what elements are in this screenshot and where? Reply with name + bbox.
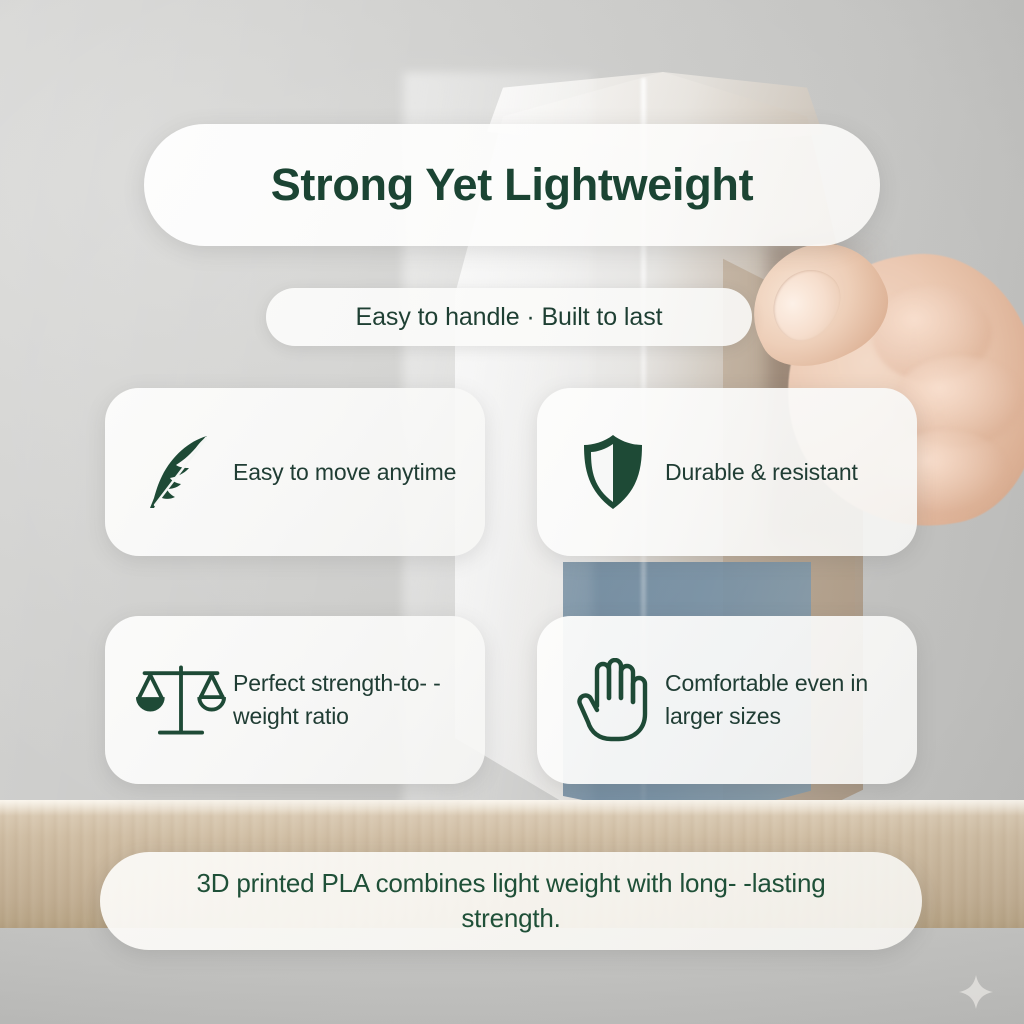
feature-card-durable[interactable]: Durable & resistant [537,388,917,556]
open-hand-icon [567,654,659,746]
feature-label: Easy to move anytime [233,456,456,489]
infographic-overlay: Strong Yet Lightweight Easy to handle · … [0,0,1024,1024]
feature-label: Perfect strength-to- -weight ratio [233,667,463,732]
feather-icon [135,426,227,518]
feature-card-strength-to-weight[interactable]: Perfect strength-to- -weight ratio [105,616,485,784]
feature-label: Durable & resistant [665,456,858,489]
footer-pill: 3D printed PLA combines light weight wit… [100,852,922,950]
feature-card-comfortable[interactable]: Comfortable even in larger sizes [537,616,917,784]
balance-scales-icon [135,654,227,746]
sparkle-icon [958,974,994,1010]
feature-card-easy-to-move[interactable]: Easy to move anytime [105,388,485,556]
footer-text: 3D printed PLA combines light weight wit… [161,866,861,937]
feature-label: Comfortable even in larger sizes [665,667,895,732]
shield-icon [567,426,659,518]
